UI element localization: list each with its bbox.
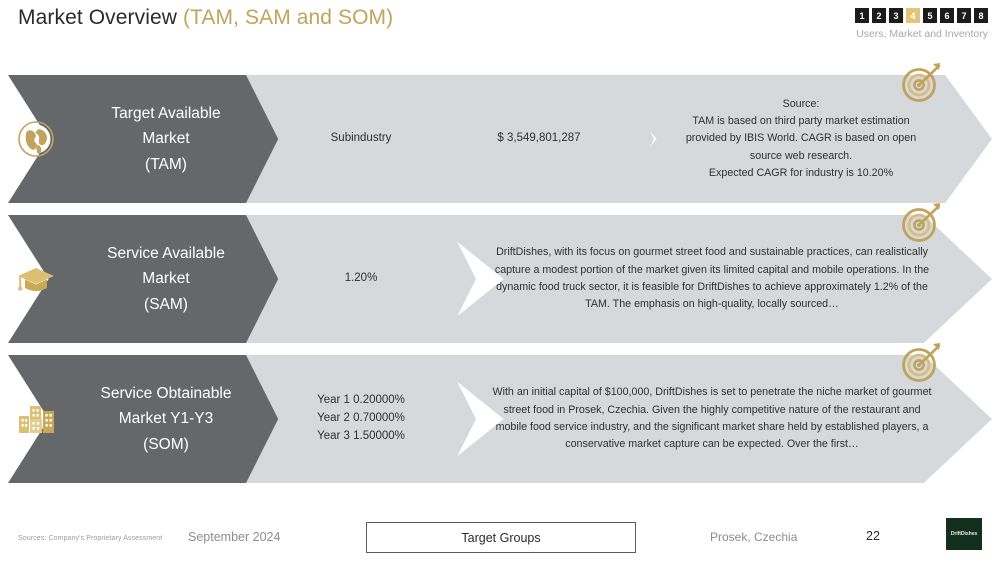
market-row-som: Service Obtainable Market Y1-Y3 (SOM) Ye… xyxy=(0,355,1000,483)
tam-title-label: Target Available Market (TAM) xyxy=(85,101,220,176)
som-metric-year-2: Year 2 0.70000% xyxy=(317,410,405,428)
som-title-chevron: Service Obtainable Market Y1-Y3 (SOM) xyxy=(8,355,298,483)
tam-title-line-1: Target Available xyxy=(111,101,220,126)
page-title-main: Market Overview xyxy=(18,6,183,29)
tam-title-line-2: Market xyxy=(111,126,220,151)
market-row-sam: Service Available Market (SAM) 1.20% Dri… xyxy=(0,215,1000,343)
pager-box-7[interactable]: 7 xyxy=(957,8,971,23)
page-title: Market Overview (TAM, SAM and SOM) xyxy=(18,6,393,30)
som-title-line-1: Service Obtainable xyxy=(101,381,232,406)
tam-desc-line-3: provided by IBIS World. CAGR is based on… xyxy=(686,130,916,147)
tam-desc-line-4: source web research. xyxy=(686,148,916,165)
footer-location: Prosek, Czechia xyxy=(710,530,797,544)
pager-box-8[interactable]: 8 xyxy=(974,8,988,23)
tam-desc-line-5: Expected CAGR for industry is 10.20% xyxy=(686,165,916,182)
tam-value: $ 3,549,801,287 xyxy=(497,130,580,148)
footer-sources: Sources: Company's Proprietary Assessmen… xyxy=(18,535,162,542)
som-metric-year-3: Year 3 1.50000% xyxy=(317,428,405,446)
som-metric-chevron: Year 1 0.20000% Year 2 0.70000% Year 3 1… xyxy=(246,355,476,483)
tam-desc-line-2: TAM is based on third party market estim… xyxy=(686,113,916,130)
som-title-line-3: (SOM) xyxy=(101,432,232,457)
page-title-accent: (TAM, SAM and SOM) xyxy=(183,6,393,29)
som-metric-year-1: Year 1 0.20000% xyxy=(317,392,405,410)
sam-description: DriftDishes, with its focus on gourmet s… xyxy=(462,244,954,313)
target-icon xyxy=(897,339,945,387)
pager-box-6[interactable]: 6 xyxy=(940,8,954,23)
pager-box-2[interactable]: 2 xyxy=(872,8,886,23)
som-metric-value: Year 1 0.20000% Year 2 0.70000% Year 3 1… xyxy=(317,392,405,445)
page-indicator[interactable]: 1 2 3 4 5 6 7 8 xyxy=(855,8,988,23)
som-description: With an initial capital of $100,000, Dri… xyxy=(462,384,954,453)
som-title-label: Service Obtainable Market Y1-Y3 (SOM) xyxy=(75,381,232,456)
pager-box-3[interactable]: 3 xyxy=(889,8,903,23)
footer-date: September 2024 xyxy=(188,530,280,544)
footer: Sources: Company's Proprietary Assessmen… xyxy=(0,505,1000,562)
footer-target-groups-box[interactable]: Target Groups xyxy=(366,522,636,553)
sam-title-line-1: Service Available xyxy=(107,241,225,266)
tam-desc-line-1: Source: xyxy=(686,96,916,113)
sam-title-line-3: (SAM) xyxy=(107,292,225,317)
pager-box-5[interactable]: 5 xyxy=(923,8,937,23)
tam-title-chevron: Target Available Market (TAM) xyxy=(8,75,298,203)
sam-metric-value: 1.20% xyxy=(345,270,378,288)
page-indicator-caption: Users, Market and Inventory xyxy=(856,28,988,40)
sam-title-chevron: Service Available Market (SAM) xyxy=(8,215,298,343)
sam-title-label: Service Available Market (SAM) xyxy=(81,241,225,316)
sam-metric-chevron: 1.20% xyxy=(246,215,476,343)
tam-metric-value: Subindustry xyxy=(331,130,392,148)
pager-box-1[interactable]: 1 xyxy=(855,8,869,23)
company-logo-text: DriftDishes xyxy=(951,531,978,537)
som-title-line-2: Market Y1-Y3 xyxy=(101,406,232,431)
tam-title-line-3: (TAM) xyxy=(111,152,220,177)
target-icon xyxy=(897,199,945,247)
footer-page-number: 22 xyxy=(866,529,880,543)
company-logo: DriftDishes xyxy=(946,518,982,550)
tam-description: Source: TAM is based on third party mark… xyxy=(656,96,938,183)
pager-box-4-active[interactable]: 4 xyxy=(906,8,920,23)
market-row-tam: Target Available Market (TAM) Subindustr… xyxy=(0,75,1000,203)
target-icon xyxy=(897,59,945,107)
sam-title-line-2: Market xyxy=(107,266,225,291)
